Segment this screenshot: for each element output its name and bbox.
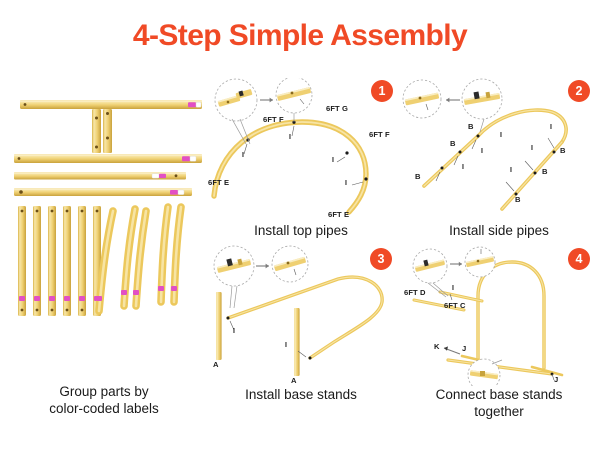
step-1-badge: 1 [371, 80, 393, 102]
step-4-label-5: J [554, 375, 558, 384]
step-1-label-5: I [242, 152, 244, 159]
step-2-label-9: I [550, 124, 552, 131]
step-2-diagram [402, 78, 596, 223]
step-3-label-0: A [213, 360, 219, 369]
step-1-label-8: I [345, 180, 347, 187]
step-2-label-1: B [450, 139, 456, 148]
step-1-label-0: 6FT F [263, 115, 284, 124]
parts-overview-panel: Group parts by color-coded labels [4, 78, 204, 378]
step-4-magnifier-base-joint [468, 359, 502, 386]
part-vertical-straight-rods [18, 206, 101, 316]
step-2-label-5: B [515, 195, 521, 204]
step-1-caption: Install top pipes [206, 222, 396, 239]
step-3-badge: 3 [370, 248, 392, 270]
part-curved-rods-left [96, 209, 146, 311]
step-2-transform-arrow [446, 98, 460, 103]
step-2-magnifier-result [403, 80, 441, 118]
step-2-label-3: B [560, 146, 566, 155]
step-2-number: 2 [576, 85, 583, 98]
step-2-label-6: I [500, 132, 502, 139]
step-4-badge: 4 [568, 248, 590, 270]
step-2-label-2: B [415, 172, 421, 181]
step-1-label-7: I [332, 157, 334, 164]
part-curved-rods-right [158, 207, 181, 302]
step-1-label-1: 6FT G [326, 104, 348, 113]
step-3-transform-arrow [256, 264, 269, 269]
step-1-label-4: 6FT E [328, 210, 349, 219]
parts-caption-line-1: Group parts by [4, 383, 204, 400]
step-2-panel: 2 [402, 78, 596, 228]
step-4-kj-arrow [444, 346, 460, 354]
step-2-caption: Install side pipes [402, 222, 596, 239]
step-4-label-4: J [462, 344, 466, 353]
step-2-badge: 2 [568, 80, 590, 102]
step-2-label-10: I [531, 145, 533, 152]
step-4-caption: Connect base stands together [402, 386, 596, 420]
part-long-straight-bar [14, 154, 202, 163]
step-2-label-0: B [468, 122, 474, 131]
step-3-diagram [206, 244, 396, 384]
part-short-straight-bar [14, 188, 192, 196]
step-1-number: 1 [379, 85, 386, 98]
parts-caption-line-2: color-coded labels [4, 400, 204, 417]
step-2-label-8: I [462, 164, 464, 171]
step-3-magnifier-result [272, 246, 308, 282]
step-1-panel: 1 [206, 78, 396, 228]
step-3-panel: 3 [206, 244, 396, 389]
step-3-label-2: I [233, 328, 235, 335]
step-4-label-1: 6FT C [444, 301, 466, 310]
page-title: 4-Step Simple Assembly [0, 18, 600, 54]
parts-panel-caption: Group parts by color-coded labels [4, 383, 204, 417]
step-4-label-0: 6FT D [404, 288, 426, 297]
step-3-base-stand-left [216, 292, 222, 360]
step-4-label-3: K [434, 342, 440, 351]
part-medium-straight-bar [14, 172, 186, 180]
step-4-diagram [402, 244, 596, 386]
step-1-label-3: 6FT E [208, 178, 229, 187]
step-4-caption-line-1: Connect base stands [402, 386, 596, 403]
step-3-number: 3 [378, 253, 385, 266]
step-4-panel: 4 [402, 244, 596, 389]
step-1-transform-arrow [260, 98, 273, 103]
step-3-base-stand-right [294, 308, 300, 376]
step-2-label-7: I [481, 148, 483, 155]
step-2-label-4: B [542, 167, 548, 176]
part-top-t-assembly [20, 100, 202, 153]
parts-diagram [4, 78, 204, 378]
step-3-label-1: A [291, 376, 297, 385]
step-4-magnifier-result [465, 247, 495, 277]
step-4-transform-arrow [450, 262, 462, 266]
step-1-label-2: 6FT F [369, 130, 390, 139]
step-3-label-3: I [285, 342, 287, 349]
step-1-label-6: I [289, 134, 291, 141]
assembly-instruction-card: 4-Step Simple Assembly [0, 0, 600, 450]
step-3-caption: Install base stands [206, 386, 396, 403]
step-1-diagram [206, 78, 396, 223]
step-4-caption-line-2: together [402, 403, 596, 420]
step-4-label-2: I [452, 285, 454, 292]
step-4-number: 4 [576, 253, 583, 266]
step-2-label-11: I [510, 167, 512, 174]
